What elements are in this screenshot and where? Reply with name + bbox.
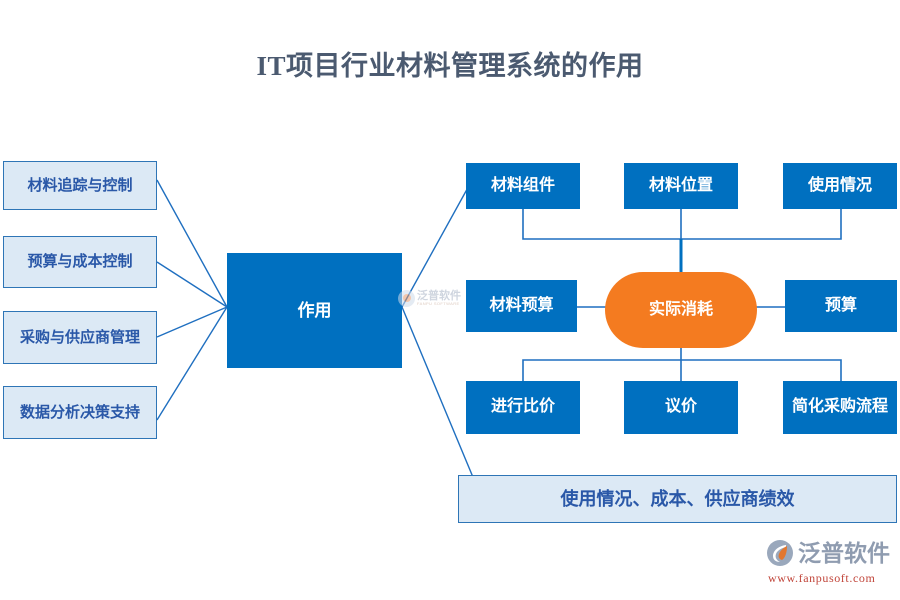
bottom-banner-metrics[interactable]: 使用情况、成本、供应商绩效: [458, 475, 897, 523]
page-title: IT项目行业材料管理系统的作用: [0, 44, 900, 83]
left-item-budget-cost-control[interactable]: 预算与成本控制: [3, 236, 157, 288]
watermark-name: 泛普软件: [417, 291, 461, 302]
center-watermark: 泛普软件 FANPU SOFTWARE: [398, 287, 474, 309]
right-node-material-budget[interactable]: 材料预算: [466, 280, 577, 332]
brand-logo-name: 泛普软件: [798, 542, 890, 565]
left-item-procurement-supplier[interactable]: 采购与供应商管理: [3, 311, 157, 364]
right-node-price-comparison[interactable]: 进行比价: [466, 381, 580, 434]
right-node-material-components[interactable]: 材料组件: [466, 163, 580, 209]
edge-left-1: [157, 180, 227, 307]
right-node-negotiation[interactable]: 议价: [624, 381, 738, 434]
watermark-text: 泛普软件 FANPU SOFTWARE: [417, 291, 461, 306]
left-item-data-analysis-support[interactable]: 数据分析决策支持: [3, 386, 157, 439]
brand-logo: 泛普软件 www.fanpusoft.com: [766, 538, 892, 588]
right-node-usage-status[interactable]: 使用情况: [783, 163, 897, 209]
brand-logo-url: www.fanpusoft.com: [768, 571, 892, 586]
fanpu-swoosh-icon: [766, 539, 794, 567]
brand-logo-row: 泛普软件: [766, 538, 892, 568]
right-node-budget[interactable]: 预算: [785, 280, 897, 332]
left-item-material-tracking[interactable]: 材料追踪与控制: [3, 161, 157, 210]
edge-bus-top: [523, 209, 841, 239]
edge-left-3: [157, 307, 227, 337]
right-node-material-location[interactable]: 材料位置: [624, 163, 738, 209]
right-hub-actual-consumption[interactable]: 实际消耗: [605, 272, 757, 348]
diagram-canvas: IT项目行业材料管理系统的作用 材料追踪与控制 预算与成本控制 采购与供应商管理…: [0, 0, 900, 600]
right-node-simplify-procurement[interactable]: 简化采购流程: [783, 381, 897, 434]
watermark-mark-icon: [398, 290, 415, 307]
center-node-role[interactable]: 作用: [227, 253, 402, 368]
edge-left-2: [157, 262, 227, 307]
edge-left-4: [157, 307, 227, 420]
edge-bus-bottom: [523, 360, 841, 381]
watermark-subtitle: FANPU SOFTWARE: [417, 302, 461, 306]
